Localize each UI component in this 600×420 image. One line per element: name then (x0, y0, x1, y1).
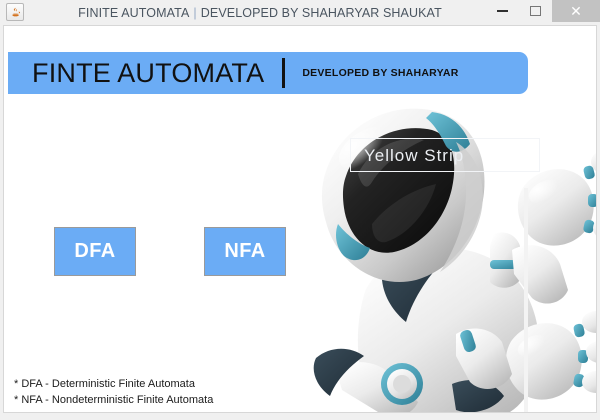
header-banner: FINTE AUTOMATA DEVELOPED BY SHAHARYAR (8, 52, 528, 94)
window-title-part2: DEVELOPED BY SHAHARYAR SHAUKAT (201, 6, 442, 20)
app-window: FINITE AUTOMATA | DEVELOPED BY SHAHARYAR… (0, 0, 600, 420)
watermark-frame (350, 138, 540, 172)
maximize-icon (530, 6, 541, 16)
banner-subtitle: DEVELOPED BY SHAHARYAR (302, 67, 458, 79)
window-title-separator: | (193, 6, 196, 20)
note-nfa: * NFA - Nondeterministic Finite Automata (14, 392, 213, 408)
note-dfa: * DFA - Deterministic Finite Automata (14, 376, 213, 392)
banner-title: FINTE AUTOMATA (32, 58, 264, 89)
window-title-part1: FINITE AUTOMATA (78, 6, 189, 20)
window-controls: ✕ (486, 0, 600, 22)
title-bar: FINITE AUTOMATA | DEVELOPED BY SHAHARYAR… (0, 0, 600, 25)
robot-illustration: Yellow Strip (306, 84, 596, 413)
dfa-button[interactable]: DFA (54, 227, 136, 276)
banner-divider (282, 58, 285, 88)
watermark-text: Yellow Strip (364, 146, 464, 166)
nfa-button[interactable]: NFA (204, 227, 286, 276)
legend-notes: * DFA - Deterministic Finite Automata * … (14, 376, 213, 408)
minimize-icon (497, 10, 508, 12)
close-button[interactable]: ✕ (552, 0, 600, 22)
close-icon: ✕ (570, 4, 582, 18)
client-area: Yellow Strip FINTE AUTOMATA DEVELOPED BY… (3, 25, 597, 413)
maximize-button[interactable] (519, 0, 552, 22)
minimize-button[interactable] (486, 0, 519, 22)
